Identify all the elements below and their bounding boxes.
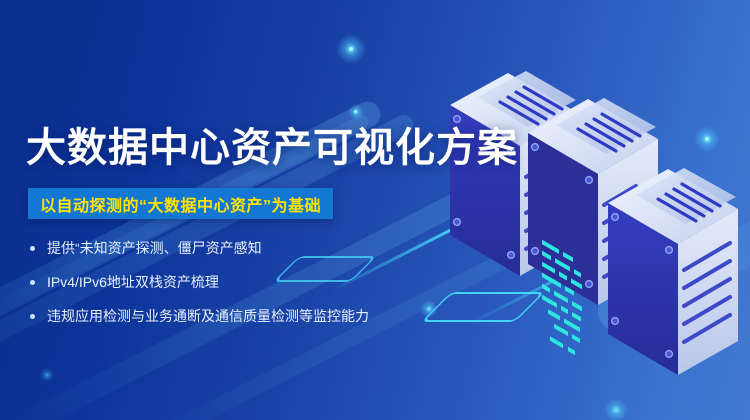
server-rack-illustration (430, 55, 750, 405)
feature-list: 提供“未知资产探测、僵尸资产感知 IPv4/IPv6地址双栈资产梳理 违规应用检… (30, 238, 450, 340)
list-item: 违规应用检测与业务通断及通信质量检测等监控能力 (30, 306, 450, 326)
list-item: 提供“未知资产探测、僵尸资产感知 (30, 238, 450, 258)
bullet-dot-icon (30, 246, 35, 251)
bullet-dot-icon (30, 280, 35, 285)
banner-text-content: 大数据中心资产可视化方案 以自动探测的“大数据中心资产”为基础 提供“未知资产探… (0, 0, 470, 420)
marketing-banner: 大数据中心资产可视化方案 以自动探测的“大数据中心资产”为基础 提供“未知资产探… (0, 0, 750, 420)
bullet-dot-icon (30, 314, 35, 319)
server-rack-right (608, 168, 738, 375)
page-title: 大数据中心资产可视化方案 (26, 126, 518, 170)
subtitle-text: 以自动探测的“大数据中心资产”为基础 (40, 192, 321, 216)
list-item-label: 违规应用检测与业务通断及通信质量检测等监控能力 (47, 306, 369, 326)
list-item-label: IPv4/IPv6地址双栈资产梳理 (47, 272, 219, 292)
subtitle-badge: 以自动探测的“大数据中心资产”为基础 (28, 188, 333, 219)
list-item-label: 提供“未知资产探测、僵尸资产感知 (47, 238, 262, 258)
server-racks-svg (430, 55, 750, 405)
list-item: IPv4/IPv6地址双栈资产梳理 (30, 272, 450, 292)
